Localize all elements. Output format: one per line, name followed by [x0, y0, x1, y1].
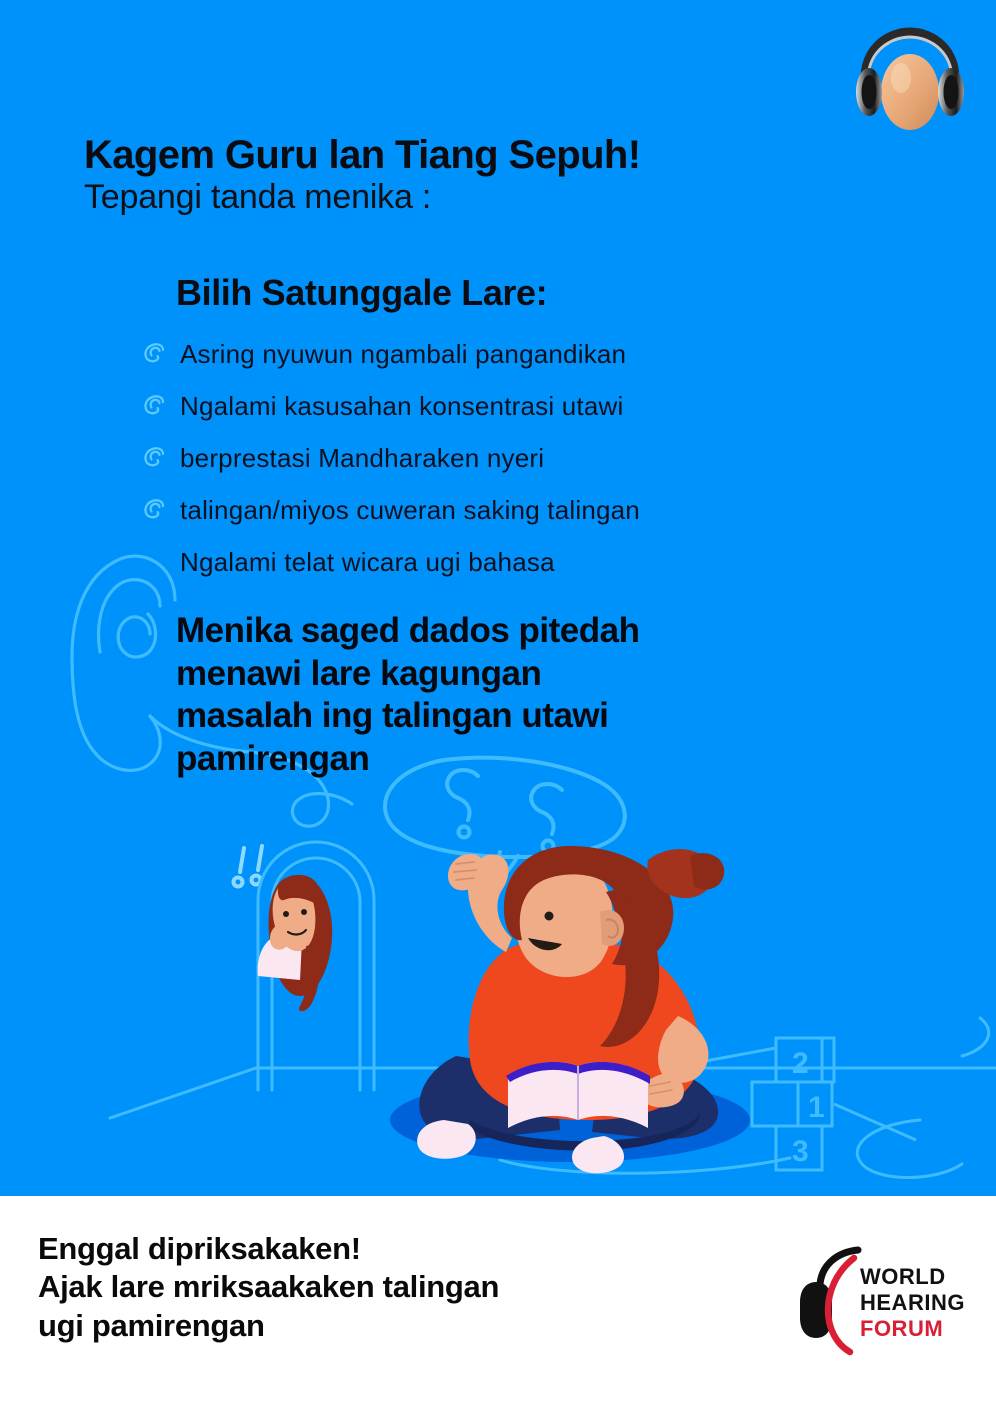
headline-block: Kagem Guru lan Tiang Sepuh! Tepangi tand… [84, 134, 844, 216]
page-subtitle: Tepangi tanda menika : [84, 178, 844, 216]
ear-icon [142, 342, 168, 364]
list-item: talingan/miyos cuweran saking talingan [142, 486, 842, 536]
footer-line-1: Enggal dipriksakaken! [38, 1230, 678, 1268]
logo-line-2: HEARING [860, 1290, 965, 1315]
key-message: Menika saged dados pitedah menawi lare k… [176, 610, 646, 781]
list-item: Ngalami kasusahan konsentrasi utawi [142, 382, 842, 432]
list-item-label: Ngalami telat wicara ugi bahasa [180, 547, 555, 578]
ear-icon [142, 394, 168, 416]
footer-band: Enggal dipriksakaken! Ajak lare mriksaak… [0, 1196, 996, 1408]
peeking-girl [258, 875, 333, 1011]
symptom-list: Asring nyuwun ngambali pangandikan Ngala… [142, 330, 842, 590]
blue-background-panel: 2 1 3 [0, 0, 996, 1196]
logo-line-3: FORUM [860, 1316, 943, 1341]
list-item: berprestasi Mandharaken nyeri [142, 434, 842, 484]
ear-icon [142, 498, 168, 520]
ear-icon [142, 446, 168, 468]
page-title: Kagem Guru lan Tiang Sepuh! [84, 134, 844, 176]
egg-with-headphones-icon [842, 26, 978, 138]
list-item-label: talingan/miyos cuweran saking talingan [180, 495, 640, 526]
footer-line-2: Ajak lare mriksaakaken talingan [38, 1268, 678, 1306]
footer-call-to-action: Enggal dipriksakaken! Ajak lare mriksaak… [38, 1230, 678, 1345]
list-heading: Bilih Satunggale Lare: [176, 272, 547, 314]
poster-root: 2 1 3 [0, 0, 996, 1408]
list-item-label: Asring nyuwun ngambali pangandikan [180, 339, 626, 370]
list-item: Ngalami telat wicara ugi bahasa [142, 538, 842, 588]
footer-line-3: ugi pamirengan [38, 1307, 678, 1345]
list-item: Asring nyuwun ngambali pangandikan [142, 330, 842, 380]
two-girls-reading-and-listening-illustration [0, 820, 996, 1196]
world-hearing-forum-logo: WORLD HEARING FORUM [792, 1242, 968, 1358]
list-item-label: Ngalami kasusahan konsentrasi utawi [180, 391, 623, 422]
list-item-label: berprestasi Mandharaken nyeri [180, 443, 544, 474]
logo-line-1: WORLD [860, 1264, 946, 1289]
